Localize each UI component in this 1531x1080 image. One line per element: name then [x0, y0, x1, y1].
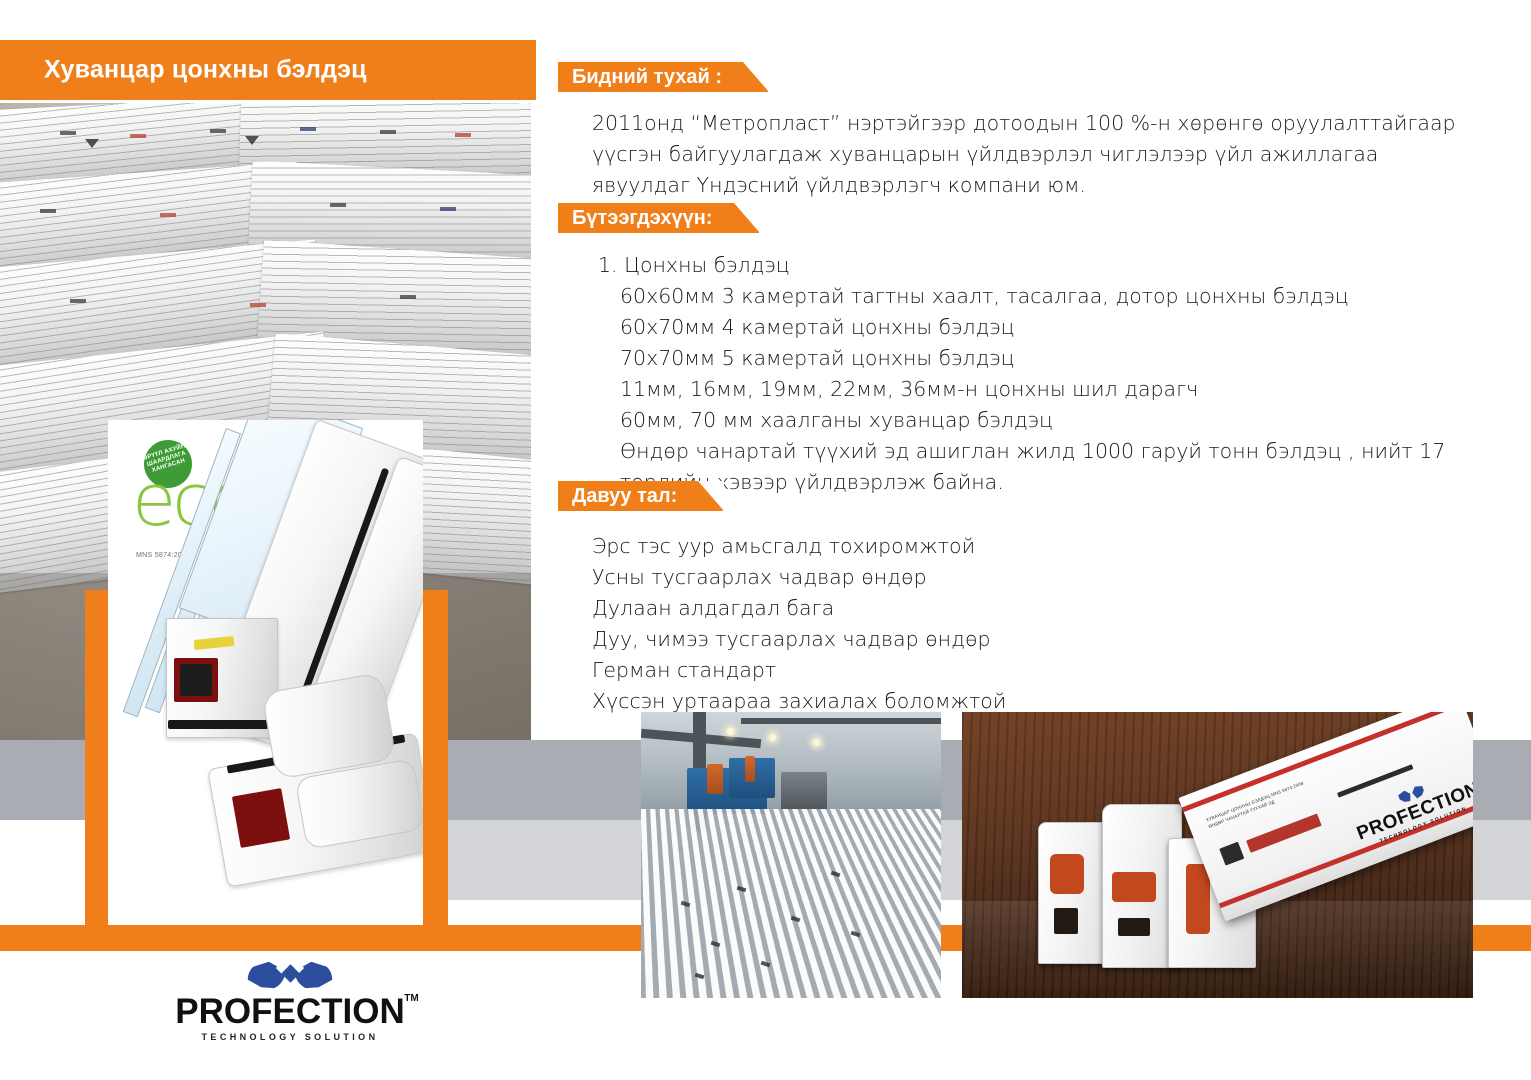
profile-cavity — [1054, 908, 1078, 934]
section-heading-about: Бидний тухай : — [558, 62, 768, 92]
photo-factory-line — [641, 712, 941, 998]
advantages-list: Эрс тэс уур амьсгалд тохиромжтой Усны ту… — [592, 531, 1192, 717]
section-heading-products: Бүтээгдэхүүн: — [558, 203, 759, 233]
logo-word-text: PROFECTION — [175, 992, 404, 1031]
profile-cavity — [1118, 918, 1150, 936]
gasket — [168, 720, 268, 729]
factory-beam — [741, 718, 941, 724]
logo-mark-icon — [247, 958, 333, 992]
decor-frame-left — [85, 590, 108, 926]
profile-cavity — [1112, 872, 1156, 902]
profile-cavity — [1050, 854, 1084, 894]
product-item-number: 1. Цонхны бэлдэц — [598, 250, 790, 281]
board-wing-left-icon — [1397, 789, 1413, 805]
decor-frame-right — [423, 590, 448, 926]
section-text-about: 2011онд “Метропласт” нэртэйгээр дотоодын… — [592, 108, 1512, 201]
poster-title-bar: Хуванцар цонхны бэлдэц — [0, 40, 536, 100]
photo-profile-samples: ХУВАНЦАР ЦОНХНЫ БЭЛДЭЦ MNS 5874:2008 ӨНД… — [962, 712, 1473, 998]
steel-chamber — [232, 788, 290, 848]
page-title: Хуванцар цонхны бэлдэц — [44, 56, 367, 85]
profile-cavity — [1186, 864, 1210, 934]
factory-machine — [781, 772, 827, 810]
photo-window-profile-card: ЭРҮҮЛ АХУЙН ШААРДЛАГА ХАНГАСАН eco MNS 5… — [108, 420, 423, 925]
poster-page: ЭРҮҮЛ АХУЙН ШААРДЛАГА ХАНГАСАН eco MNS 5… — [0, 0, 1531, 1080]
logo-tagline: TECHNOLOGY SOLUTION — [170, 1032, 410, 1042]
factory-machine — [745, 756, 755, 782]
decor-band-dark-mid — [448, 740, 643, 820]
board-wing-right-icon — [1410, 784, 1426, 800]
decor-band-light-gap — [940, 820, 962, 900]
logo-trademark: TM — [404, 994, 418, 1004]
factory-machine — [707, 764, 723, 794]
steel-reinforcement — [180, 664, 212, 696]
decor-band-dark-gap — [940, 740, 962, 820]
company-logo: PROFECTION TM TECHNOLOGY SOLUTION — [170, 958, 410, 1058]
logo-wordmark: PROFECTION TM — [175, 994, 404, 1029]
board-mark — [1219, 842, 1244, 866]
section-heading-advantages: Давуу тал: — [558, 481, 723, 511]
decor-band-light-mid — [448, 820, 643, 900]
board-red-label — [1246, 813, 1322, 852]
product-spec-list: 60х60мм 3 камертай тагтны хаалт, тасалга… — [620, 281, 1520, 498]
